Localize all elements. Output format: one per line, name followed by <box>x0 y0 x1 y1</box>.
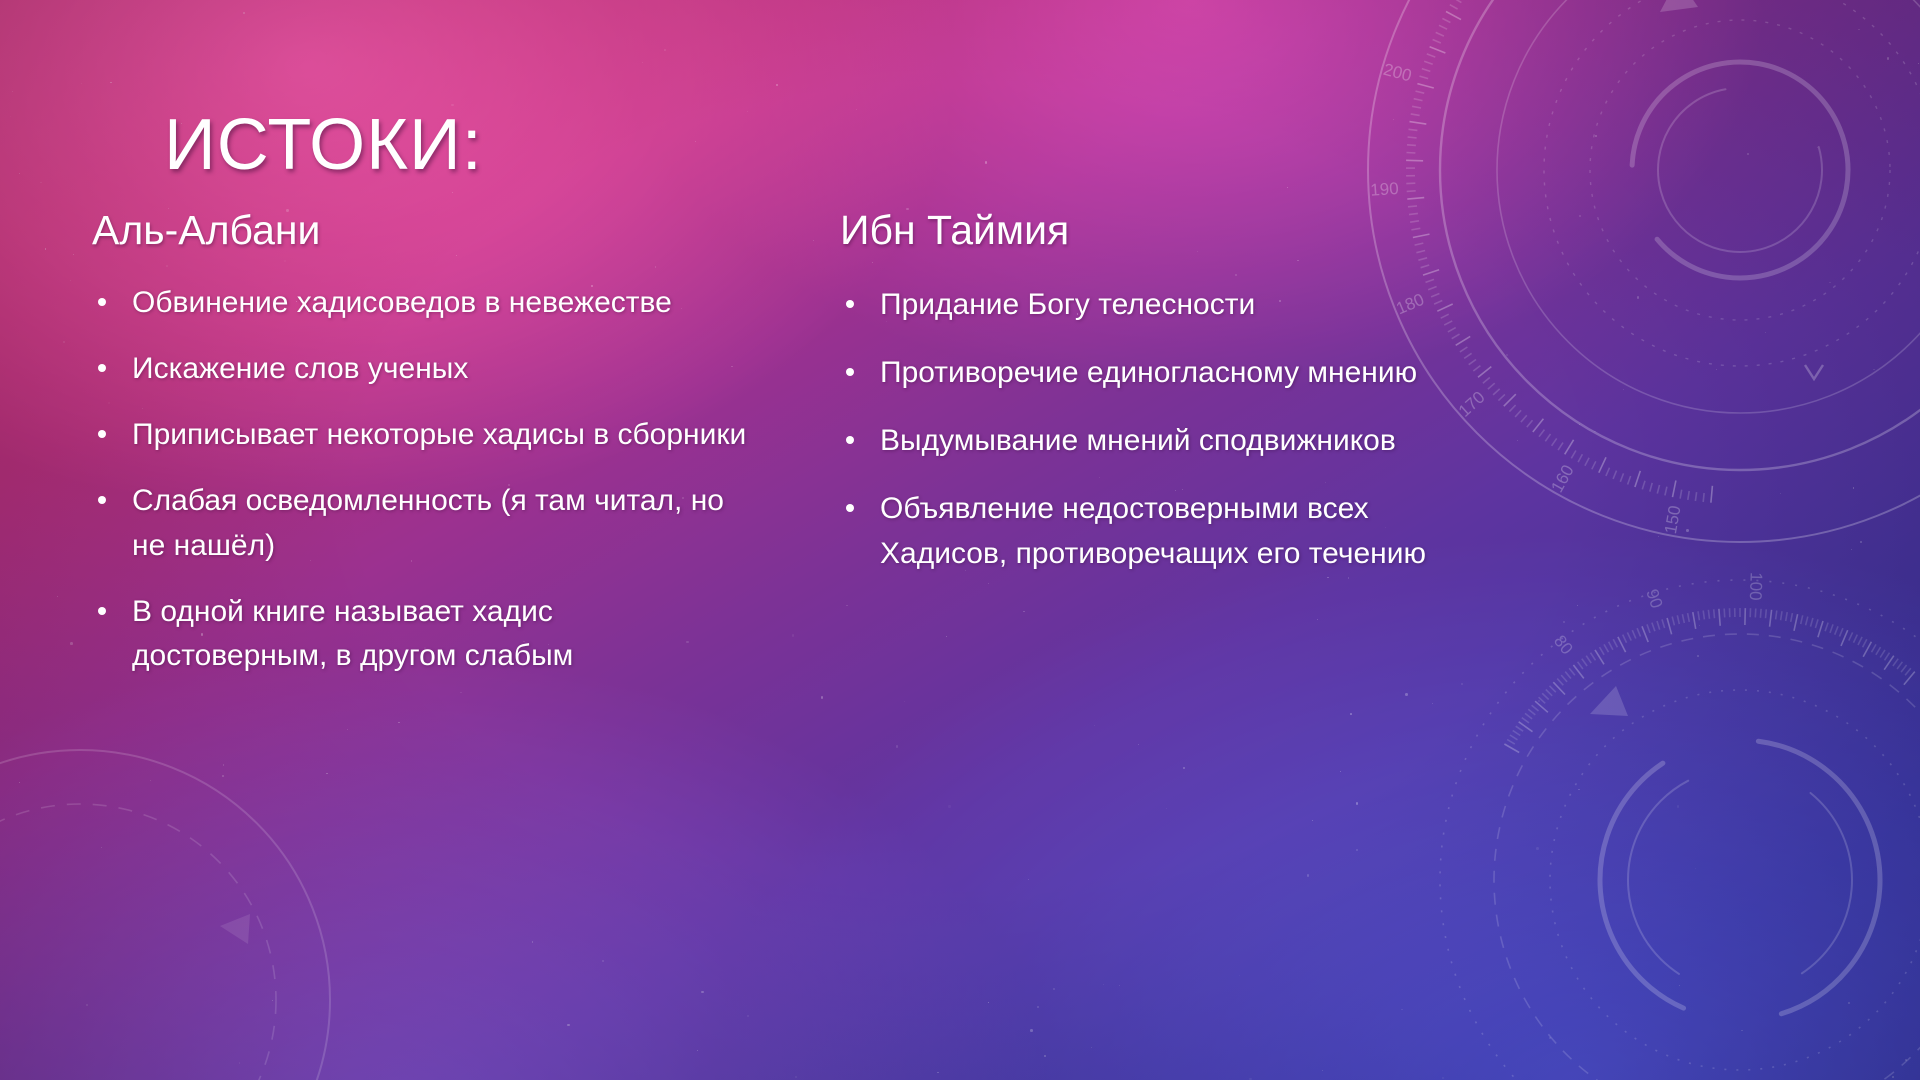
list-item: Обвинение хадисоведов в невежестве <box>92 281 752 325</box>
column-heading-right: Ибн Таймия <box>840 206 1500 255</box>
list-item-text: Выдумывание мнений сподвижников <box>880 424 1396 457</box>
list-item-text: Слабая осведомленность (я там читал, но … <box>132 484 724 561</box>
list-item-text: Искажение слов ученых <box>132 352 468 385</box>
column-heading-left: Аль-Албани <box>92 206 752 255</box>
bullet-dot-icon <box>846 436 854 444</box>
list-item: Искажение слов ученых <box>92 347 752 391</box>
slide-title: ИСТОКИ: <box>164 108 483 184</box>
slide-content: ИСТОКИ: Аль-Албани Обвинение хадисоведов… <box>0 0 1920 1080</box>
list-item: Противоречие единогласному мнению <box>840 351 1500 395</box>
bullet-dot-icon <box>98 430 106 438</box>
bullet-dot-icon <box>98 298 106 306</box>
bullet-dot-icon <box>98 364 106 372</box>
list-item-text: Придание Богу телесности <box>880 288 1255 321</box>
list-item: Выдумывание мнений сподвижников <box>840 419 1500 463</box>
list-item-text: Объявление недостоверными всех Хадисов, … <box>880 492 1426 569</box>
bullet-dot-icon <box>846 504 854 512</box>
list-item: Слабая осведомленность (я там читал, но … <box>92 479 752 567</box>
bullet-dot-icon <box>98 607 106 615</box>
presentation-slide: 150160170180190200210 8090100 <box>0 0 1920 1080</box>
bullet-dot-icon <box>846 300 854 308</box>
list-item-text: Приписывает некоторые хадисы в сборники <box>132 418 746 451</box>
bullet-list-left: Обвинение хадисоведов в невежестве Искаж… <box>92 281 752 678</box>
bullet-dot-icon <box>846 368 854 376</box>
content-column-left: Аль-Албани Обвинение хадисоведов в невеж… <box>92 206 752 678</box>
bullet-dot-icon <box>98 496 106 504</box>
list-item-text: В одной книге называет хадис достоверным… <box>132 595 573 672</box>
list-item: Придание Богу телесности <box>840 283 1500 327</box>
list-item: В одной книге называет хадис достоверным… <box>92 590 752 678</box>
bullet-list-right: Придание Богу телесности Противоречие ед… <box>840 283 1500 575</box>
list-item: Объявление недостоверными всех Хадисов, … <box>840 487 1500 575</box>
list-item-text: Обвинение хадисоведов в невежестве <box>132 286 672 319</box>
content-column-right: Ибн Таймия Придание Богу телесности Прот… <box>840 206 1500 600</box>
list-item-text: Противоречие единогласному мнению <box>880 356 1417 389</box>
list-item: Приписывает некоторые хадисы в сборники <box>92 413 752 457</box>
